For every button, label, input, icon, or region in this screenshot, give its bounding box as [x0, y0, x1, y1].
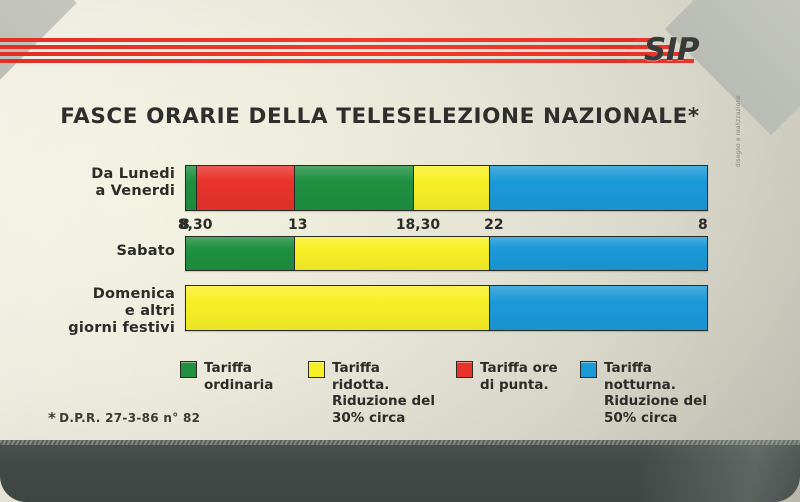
segment-sheen — [490, 166, 707, 210]
legend-swatch — [308, 361, 325, 378]
tariff-segment — [490, 166, 707, 210]
tariff-bar — [185, 236, 708, 271]
tariff-segment — [490, 237, 707, 270]
segment-sheen — [414, 166, 489, 210]
tariff-segment — [186, 237, 295, 270]
segment-sheen — [197, 166, 294, 210]
tariff-segment — [490, 286, 707, 330]
hour-tick-label: 22 — [484, 217, 503, 233]
segment-sheen — [295, 166, 413, 210]
footnote: *D.P.R. 27-3-86 n° 82 — [48, 409, 200, 427]
hour-tick-label: 13 — [288, 217, 307, 233]
legend-label: Tariffa ridotta. Riduzione del 30% circa — [332, 360, 435, 426]
legend-swatch — [580, 361, 597, 378]
phonecard: SIP FASCE ORARIE DELLA TELESELEZIONE NAZ… — [0, 0, 800, 502]
legend-label: Tariffa ordinaria — [204, 360, 273, 393]
legend-swatch — [180, 361, 197, 378]
tariff-bar — [185, 165, 708, 211]
tariff-segment — [197, 166, 295, 210]
row-label-line: a Venerdi — [40, 183, 175, 200]
hour-tick-labels: 88,301318,30228 — [0, 217, 800, 235]
row-label-line: e altri — [40, 303, 175, 320]
side-credit: disegno e realizzazione — [736, 95, 742, 205]
legend-label: Tariffa notturna. Riduzione del 50% circ… — [604, 360, 707, 426]
tariff-segment — [186, 166, 197, 210]
row-label: Da Lunedia Venerdi — [40, 166, 175, 200]
footnote-asterisk: * — [48, 409, 56, 427]
legend-item: Tariffa notturna. Riduzione del 50% circ… — [580, 360, 720, 426]
row-label-line: giorni festivi — [40, 320, 175, 337]
segment-sheen — [186, 286, 489, 330]
magnetic-strip-glint — [640, 440, 800, 502]
row-label-line: Da Lunedi — [40, 166, 175, 183]
footnote-text: D.P.R. 27-3-86 n° 82 — [59, 411, 200, 425]
magnetic-strip — [0, 440, 800, 502]
segment-sheen — [490, 237, 707, 270]
segment-sheen — [295, 237, 489, 270]
legend-item: Tariffa ridotta. Riduzione del 30% circa — [308, 360, 448, 426]
tariff-segment — [414, 166, 490, 210]
tariff-segment — [295, 237, 490, 270]
row-label-line: Sabato — [40, 243, 175, 260]
tariff-segment — [295, 166, 414, 210]
legend-label: Tariffa ore di punta. — [480, 360, 558, 393]
row-label-line: Domenica — [40, 286, 175, 303]
segment-sheen — [186, 166, 196, 210]
tariff-segment — [186, 286, 490, 330]
row-label: Sabato — [40, 243, 175, 260]
hour-tick-label: 8 — [698, 217, 708, 233]
hour-tick-label: 8,30 — [178, 217, 213, 233]
legend-item: Tariffa ore di punta. — [456, 360, 596, 393]
hour-tick-label: 18,30 — [396, 217, 440, 233]
row-label: Domenicae altrigiorni festivi — [40, 286, 175, 337]
segment-sheen — [186, 237, 294, 270]
legend-item: Tariffa ordinaria — [180, 360, 320, 393]
segment-sheen — [490, 286, 707, 330]
tariff-bar — [185, 285, 708, 331]
legend-swatch — [456, 361, 473, 378]
